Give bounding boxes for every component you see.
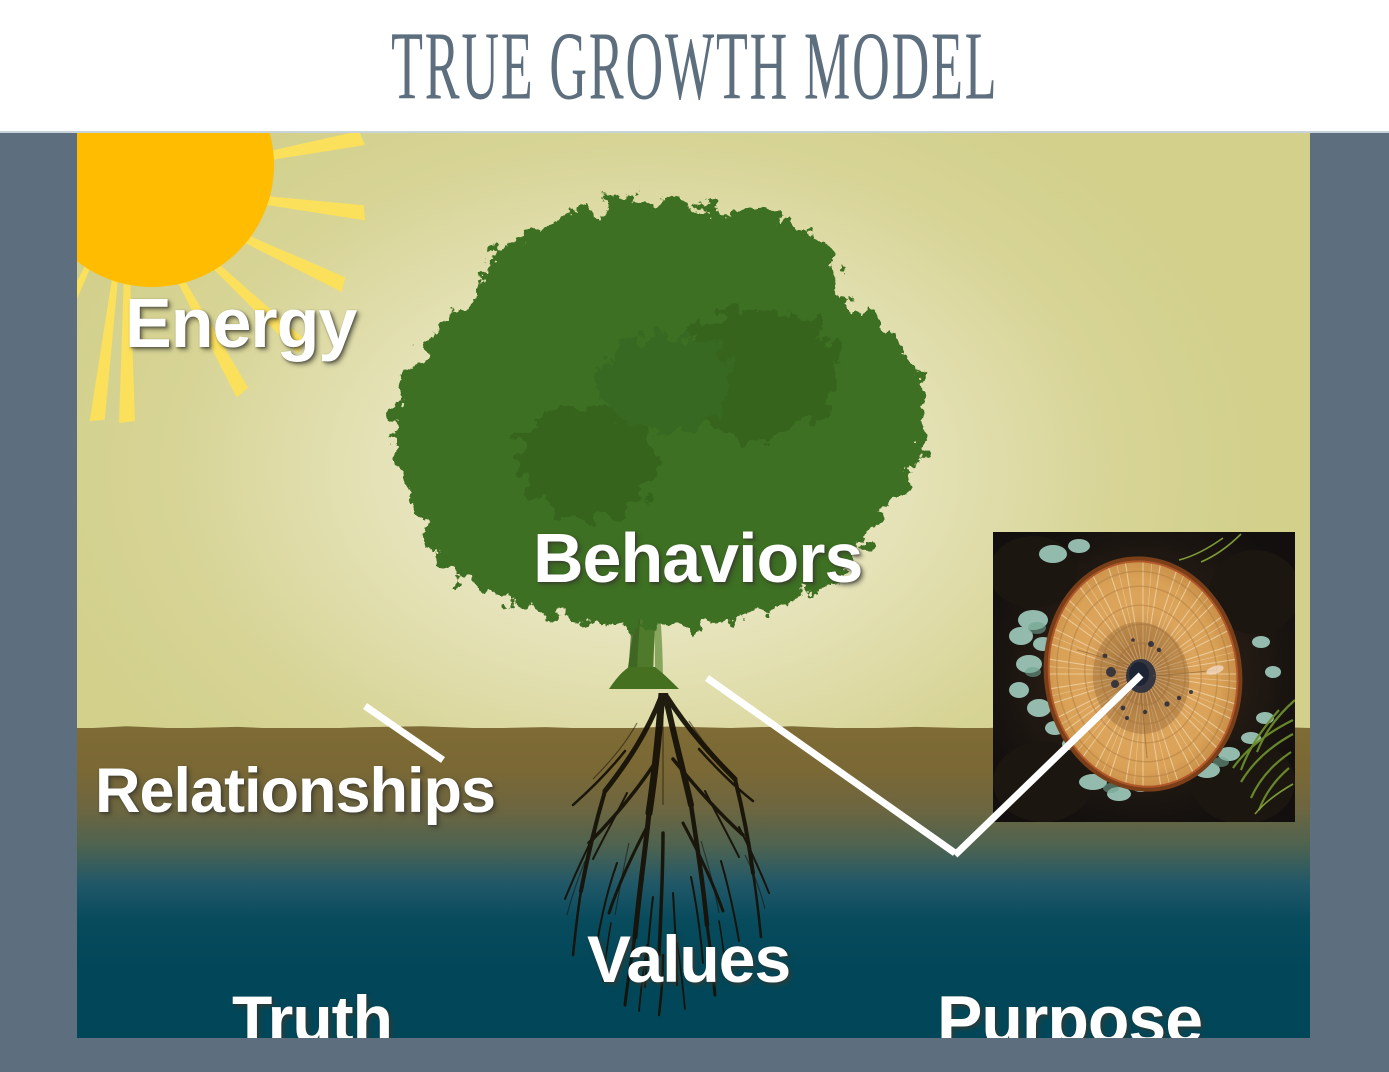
page-title: TRUE GROWTH MODEL — [391, 18, 998, 115]
title-band: TRUE GROWTH MODEL — [0, 0, 1389, 133]
tree-graphic — [337, 133, 977, 773]
illustration-panel: Energy Behaviors Relationships Values Tr… — [77, 133, 1310, 1038]
label-values: Values — [587, 921, 790, 997]
label-relationships: Relationships — [95, 755, 495, 827]
slide-canvas: TRUE GROWTH MODEL — [0, 0, 1389, 1072]
tree-stump-cross-section — [993, 532, 1295, 822]
label-energy: Energy — [125, 283, 356, 363]
label-truth: Truth — [232, 981, 392, 1038]
label-behaviors: Behaviors — [533, 518, 862, 598]
label-purpose: Purpose — [937, 981, 1202, 1038]
